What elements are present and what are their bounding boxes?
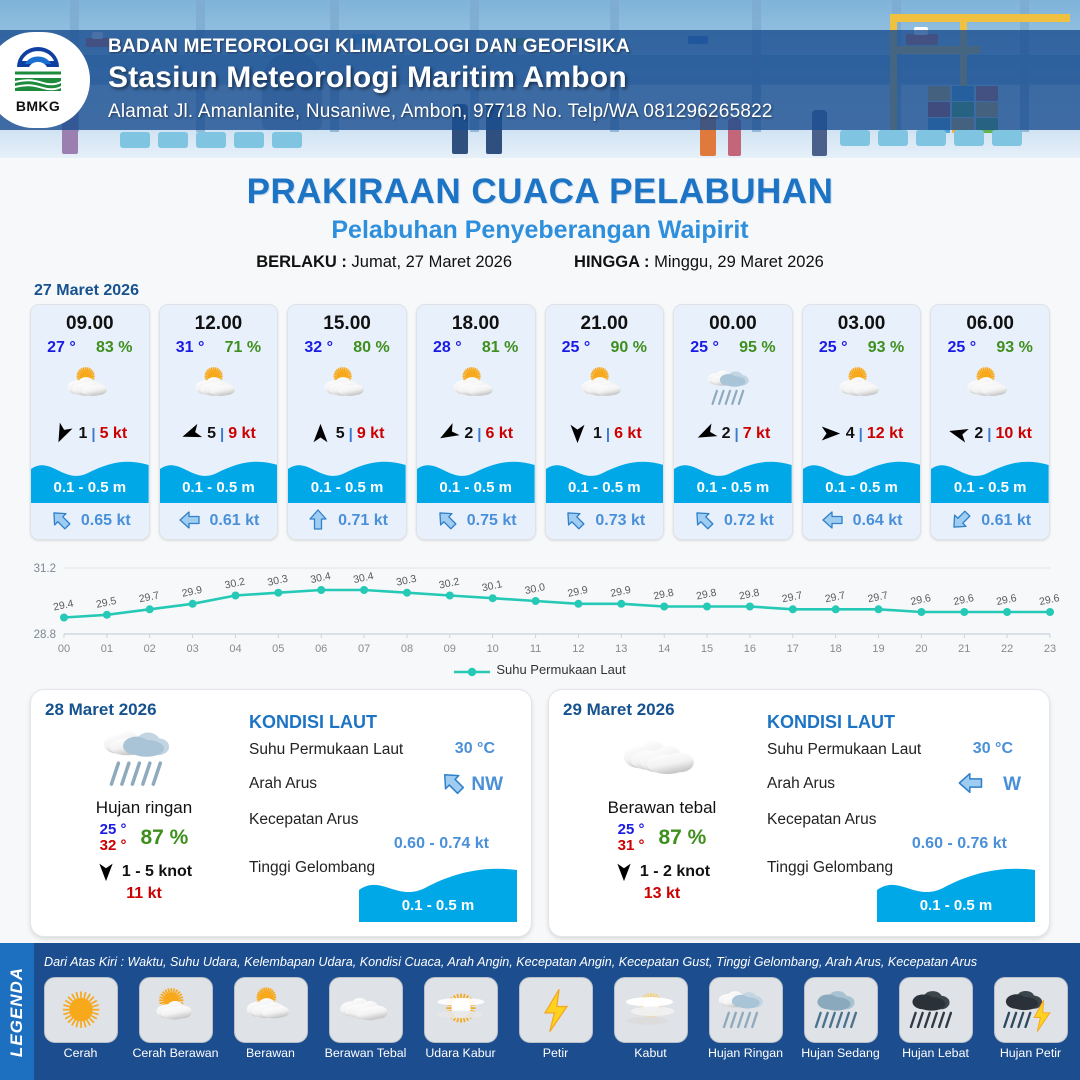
- card-wave: 0.1 - 0.5 m: [803, 451, 921, 503]
- current-direction-arrow-icon: [949, 508, 975, 534]
- hourly-forecast-cards: 09.00 27 ° 83 % 1 | 5 kt: [0, 304, 1080, 540]
- weather-hujan-lebat-icon: [899, 977, 973, 1043]
- legend-item: Hujan Sedang: [796, 977, 885, 1060]
- legend-side-tab: LEGENDA: [0, 943, 34, 1080]
- current-direction-arrow-icon: [692, 508, 718, 534]
- wind-scale: 2: [464, 425, 473, 443]
- weather-berawan-icon: [546, 359, 664, 417]
- daily-temps: 25 ° 31 ° 87 %: [563, 822, 761, 854]
- wave-height: 0.1 - 0.5 m: [546, 479, 664, 496]
- wind-speed: 6 kt: [485, 425, 513, 443]
- legend-item: Hujan Ringan: [701, 977, 790, 1060]
- svg-text:14: 14: [658, 643, 670, 655]
- wind-direction-arrow-icon: [96, 862, 116, 882]
- current-direction-label: Arah Arus: [767, 775, 835, 793]
- legend-item-label: Hujan Ringan: [708, 1046, 783, 1060]
- svg-text:10: 10: [487, 643, 499, 655]
- weather-berawan-icon: [31, 359, 149, 417]
- wind-separator: |: [349, 426, 353, 443]
- card-wave: 0.1 - 0.5 m: [417, 451, 535, 503]
- chart-legend: Suhu Permukaan Laut: [0, 662, 1080, 677]
- station-contact: Alamat Jl. Amanlanite, Nusaniwe, Ambon, …: [108, 101, 1058, 123]
- daily-wind: 1 - 2 knot: [563, 862, 761, 882]
- card-wind: 4 | 12 kt: [803, 417, 921, 451]
- legend-item: Cerah Berawan: [131, 977, 220, 1060]
- card-humidity: 93 %: [996, 339, 1032, 357]
- card-wind: 1 | 6 kt: [546, 417, 664, 451]
- wind-scale: 5: [336, 425, 345, 443]
- bmkg-logo-text: BMKG: [16, 98, 60, 114]
- daily-temp-min: 25 °: [100, 822, 127, 838]
- svg-text:00: 00: [58, 643, 70, 655]
- legend-item: Hujan Lebat: [891, 977, 980, 1060]
- daily-wind: 1 - 5 knot: [45, 862, 243, 882]
- weather-berawan-tebal-icon: [563, 722, 761, 796]
- svg-text:06: 06: [315, 643, 327, 655]
- svg-text:21: 21: [958, 643, 970, 655]
- current-direction-arrow-icon: [821, 508, 847, 534]
- daily-gust: 13 kt: [563, 885, 761, 903]
- sst-label: Suhu Permukaan Laut: [767, 741, 921, 759]
- current-direction-value: NW: [471, 774, 503, 796]
- wave-height-value: 0.1 - 0.5 m: [877, 897, 1035, 914]
- legend-item-label: Kabut: [634, 1046, 666, 1060]
- sea-conditions: KONDISI LAUT Suhu Permukaan Laut 30 °C A…: [761, 700, 1035, 926]
- weather-petir-icon: [519, 977, 593, 1043]
- current-speed: 0.61 kt: [981, 512, 1031, 530]
- daily-condition: Berawan tebal: [563, 798, 761, 818]
- svg-text:05: 05: [272, 643, 284, 655]
- sst-value: 30 °C: [455, 740, 495, 758]
- legend-bar: LEGENDA Dari Atas Kiri : Waktu, Suhu Uda…: [0, 943, 1080, 1080]
- legend-item-label: Hujan Petir: [1000, 1046, 1061, 1060]
- legend-item: Hujan Petir: [986, 977, 1075, 1060]
- wind-direction-arrow-icon: [52, 423, 74, 445]
- legend-item: Berawan Tebal: [321, 977, 410, 1060]
- hourly-card: 15.00 32 ° 80 % 5 | 9 kt: [287, 304, 407, 540]
- station-name: Stasiun Meteorologi Maritim Ambon: [108, 61, 1058, 95]
- hourly-card: 21.00 25 ° 90 % 1 | 6 kt: [545, 304, 665, 540]
- legend-item: Cerah: [36, 977, 125, 1060]
- page-title: PRAKIRAAN CUACA PELABUHAN: [0, 172, 1080, 212]
- current-direction-arrow-icon: [563, 508, 589, 534]
- wind-separator: |: [987, 426, 991, 443]
- card-wave: 0.1 - 0.5 m: [931, 451, 1049, 503]
- valid-from-label: BERLAKU :: [256, 253, 347, 271]
- card-current: 0.75 kt: [417, 503, 535, 539]
- card-time: 00.00: [674, 305, 792, 335]
- current-speed: 0.72 kt: [724, 512, 774, 530]
- card-temperature: 28 °: [433, 339, 462, 357]
- wave-height: 0.1 - 0.5 m: [160, 479, 278, 496]
- page-header: BMKG BADAN METEOROLOGI KLIMATOLOGI DAN G…: [0, 0, 1080, 158]
- current-speed-value: 0.60 - 0.76 kt: [912, 835, 1007, 853]
- hourly-card: 03.00 25 ° 93 % 4 | 12 kt: [802, 304, 922, 540]
- svg-text:07: 07: [358, 643, 370, 655]
- svg-text:02: 02: [144, 643, 156, 655]
- card-wind: 2 | 10 kt: [931, 417, 1049, 451]
- card-wind: 5 | 9 kt: [160, 417, 278, 451]
- daily-wind-range: 1 - 5 knot: [122, 863, 192, 881]
- current-speed: 0.61 kt: [210, 512, 260, 530]
- hourly-card: 06.00 25 ° 93 % 2 | 10 kt: [930, 304, 1050, 540]
- sst-value: 30 °C: [973, 740, 1013, 758]
- card-temperature: 31 °: [176, 339, 205, 357]
- daily-humidity: 87 %: [658, 826, 706, 850]
- wind-scale: 1: [593, 425, 602, 443]
- svg-text:22: 22: [1001, 643, 1013, 655]
- current-speed: 0.75 kt: [467, 512, 517, 530]
- wind-speed: 7 kt: [743, 425, 771, 443]
- daily-condition: Hujan ringan: [45, 798, 243, 818]
- card-current: 0.61 kt: [931, 503, 1049, 539]
- card-wind: 5 | 9 kt: [288, 417, 406, 451]
- daily-gust: 11 kt: [45, 885, 243, 903]
- card-temperature: 25 °: [562, 339, 591, 357]
- wind-speed: 5 kt: [100, 425, 128, 443]
- card-wave: 0.1 - 0.5 m: [31, 451, 149, 503]
- weather-kabut-icon: [614, 977, 688, 1043]
- wind-separator: |: [859, 426, 863, 443]
- sst-line-chart-svg: 31.2 28.8 29.429.529.729.930.230.330.430…: [18, 552, 1062, 660]
- sea-conditions-title: KONDISI LAUT: [767, 712, 1035, 733]
- card-time: 12.00: [160, 305, 278, 335]
- wave-height-value: 0.1 - 0.5 m: [359, 897, 517, 914]
- svg-text:12: 12: [572, 643, 584, 655]
- wind-separator: |: [735, 426, 739, 443]
- daily-date: 28 Maret 2026: [45, 700, 243, 720]
- current-speed-value: 0.60 - 0.74 kt: [394, 835, 489, 853]
- wind-scale: 5: [207, 425, 216, 443]
- valid-from-value: Jumat, 27 Maret 2026: [352, 253, 513, 271]
- card-time: 18.00: [417, 305, 535, 335]
- wind-direction-arrow-icon: [820, 423, 842, 445]
- weather-berawan-icon: [417, 359, 535, 417]
- wave-height: 0.1 - 0.5 m: [417, 479, 535, 496]
- legend-item: Kabut: [606, 977, 695, 1060]
- wind-speed: 10 kt: [996, 425, 1032, 443]
- chart-legend-marker: [454, 665, 490, 675]
- current-direction-value: W: [1003, 774, 1021, 796]
- current-speed: 0.71 kt: [338, 512, 388, 530]
- card-wave: 0.1 - 0.5 m: [288, 451, 406, 503]
- wind-direction-arrow-icon: [948, 423, 970, 445]
- svg-text:08: 08: [401, 643, 413, 655]
- card-current: 0.72 kt: [674, 503, 792, 539]
- wave-height: 0.1 - 0.5 m: [803, 479, 921, 496]
- card-humidity: 80 %: [353, 339, 389, 357]
- weather-berawan-icon: [234, 977, 308, 1043]
- current-speed-label: Kecepatan Arus: [767, 811, 876, 829]
- hourly-card: 18.00 28 ° 81 % 2 | 6 kt: [416, 304, 536, 540]
- card-time: 15.00: [288, 305, 406, 335]
- wind-direction-arrow-icon: [567, 423, 589, 445]
- card-current: 0.61 kt: [160, 503, 278, 539]
- valid-from: BERLAKU : Jumat, 27 Maret 2026: [256, 253, 512, 272]
- hourly-card: 12.00 31 ° 71 % 5 | 9 kt: [159, 304, 279, 540]
- current-direction-arrow-icon: [439, 769, 465, 795]
- legend-icon-list: Cerah Cerah Berawan Berawan: [36, 977, 1076, 1060]
- legend-item-label: Hujan Lebat: [902, 1046, 969, 1060]
- daily-summary: 28 Maret 2026 Hujan ringan 25 ° 32 ° 87: [45, 700, 243, 926]
- legend-item-label: Hujan Sedang: [801, 1046, 880, 1060]
- card-time: 09.00: [31, 305, 149, 335]
- card-humidity: 90 %: [611, 339, 647, 357]
- legend-item-label: Berawan: [246, 1046, 295, 1060]
- hourly-card: 09.00 27 ° 83 % 1 | 5 kt: [30, 304, 150, 540]
- wave-height-label: Tinggi Gelombang: [249, 859, 375, 877]
- weather-berawan-icon: [160, 359, 278, 417]
- agency-name: BADAN METEOROLOGI KLIMATOLOGI DAN GEOFIS…: [108, 36, 1058, 58]
- wind-direction-arrow-icon: [696, 423, 718, 445]
- wind-scale: 1: [78, 425, 87, 443]
- valid-to-value: Minggu, 29 Maret 2026: [654, 253, 824, 271]
- current-direction-arrow-icon: [49, 508, 75, 534]
- weather-hujan-ringan-icon: [45, 722, 243, 796]
- current-speed: 0.64 kt: [853, 512, 903, 530]
- current-direction-label: Arah Arus: [249, 775, 317, 793]
- current-speed-label: Kecepatan Arus: [249, 811, 358, 829]
- card-current: 0.71 kt: [288, 503, 406, 539]
- bmkg-logo-mark: [9, 47, 67, 97]
- daily-forecast-panel: 29 Maret 2026 Berawan tebal 25 ° 31 ° 87: [548, 689, 1050, 937]
- card-temperature: 25 °: [948, 339, 977, 357]
- current-direction-arrow-icon: [178, 508, 204, 534]
- weather-hujan-petir-icon: [994, 977, 1068, 1043]
- svg-text:23: 23: [1044, 643, 1056, 655]
- wind-scale: 2: [974, 425, 983, 443]
- wind-separator: |: [477, 426, 481, 443]
- svg-text:17: 17: [787, 643, 799, 655]
- weather-berawan-icon: [288, 359, 406, 417]
- wind-direction-arrow-icon: [438, 423, 460, 445]
- legend-item-label: Cerah Berawan: [132, 1046, 218, 1060]
- current-direction-arrow-icon: [435, 508, 461, 534]
- weather-berawan-tebal-icon: [329, 977, 403, 1043]
- wave-height: 0.1 - 0.5 m: [288, 479, 406, 496]
- legend-item: Petir: [511, 977, 600, 1060]
- weather-cerah-berawan-icon: [139, 977, 213, 1043]
- card-humidity: 93 %: [868, 339, 904, 357]
- card-wind: 1 | 5 kt: [31, 417, 149, 451]
- daily-humidity: 87 %: [140, 826, 188, 850]
- daily-wind-range: 1 - 2 knot: [640, 863, 710, 881]
- svg-text:18: 18: [830, 643, 842, 655]
- wind-direction-arrow-icon: [181, 423, 203, 445]
- card-wave: 0.1 - 0.5 m: [160, 451, 278, 503]
- svg-text:28.8: 28.8: [34, 629, 56, 641]
- legend-item-label: Berawan Tebal: [325, 1046, 407, 1060]
- weather-udara-kabur-icon: [424, 977, 498, 1043]
- valid-to: HINGGA : Minggu, 29 Maret 2026: [574, 253, 824, 272]
- wave-height: 0.1 - 0.5 m: [931, 479, 1049, 496]
- wave-height-label: Tinggi Gelombang: [767, 859, 893, 877]
- svg-text:16: 16: [744, 643, 756, 655]
- wind-direction-arrow-icon: [614, 862, 634, 882]
- weather-hujan-ringan-icon: [674, 359, 792, 417]
- weather-berawan-icon: [803, 359, 921, 417]
- daily-date: 29 Maret 2026: [563, 700, 761, 720]
- card-wave: 0.1 - 0.5 m: [546, 451, 664, 503]
- sst-chart: 31.2 28.8 29.429.529.729.930.230.330.430…: [18, 552, 1062, 660]
- card-time: 06.00: [931, 305, 1049, 335]
- card-wind: 2 | 6 kt: [417, 417, 535, 451]
- page-subtitle: Pelabuhan Penyeberangan Waipirit: [0, 216, 1080, 245]
- weather-berawan-icon: [931, 359, 1049, 417]
- wind-speed: 12 kt: [867, 425, 903, 443]
- wind-scale: 4: [846, 425, 855, 443]
- legend-item: Udara Kabur: [416, 977, 505, 1060]
- wave-height: 0.1 - 0.5 m: [674, 479, 792, 496]
- card-time: 03.00: [803, 305, 921, 335]
- wind-direction-arrow-icon: [310, 423, 332, 445]
- daily-forecast-panel: 28 Maret 2026 Hujan ringan 25 ° 32 ° 87: [30, 689, 532, 937]
- svg-text:03: 03: [186, 643, 198, 655]
- svg-text:19: 19: [872, 643, 884, 655]
- weather-cerah-icon: [44, 977, 118, 1043]
- wind-separator: |: [91, 426, 95, 443]
- legend-item-label: Cerah: [64, 1046, 98, 1060]
- current-speed: 0.65 kt: [81, 512, 131, 530]
- svg-text:15: 15: [701, 643, 713, 655]
- wave-height: 0.1 - 0.5 m: [31, 479, 149, 496]
- card-humidity: 81 %: [482, 339, 518, 357]
- hourly-date-label: 27 Maret 2026: [34, 282, 1080, 300]
- card-humidity: 83 %: [96, 339, 132, 357]
- svg-text:04: 04: [229, 643, 241, 655]
- svg-text:01: 01: [101, 643, 113, 655]
- wind-speed: 6 kt: [614, 425, 642, 443]
- card-current: 0.64 kt: [803, 503, 921, 539]
- weather-hujan-ringan-icon: [709, 977, 783, 1043]
- legend-item-label: Udara Kabur: [425, 1046, 495, 1060]
- sst-label: Suhu Permukaan Laut: [249, 741, 403, 759]
- card-current: 0.65 kt: [31, 503, 149, 539]
- sea-conditions: KONDISI LAUT Suhu Permukaan Laut 30 °C A…: [243, 700, 517, 926]
- wind-speed: 9 kt: [228, 425, 256, 443]
- svg-text:13: 13: [615, 643, 627, 655]
- current-direction-arrow-icon: [957, 769, 983, 795]
- svg-text:09: 09: [444, 643, 456, 655]
- weather-hujan-sedang-icon: [804, 977, 878, 1043]
- wind-speed: 9 kt: [357, 425, 385, 443]
- card-temperature: 32 °: [304, 339, 333, 357]
- legend-item: Berawan: [226, 977, 315, 1060]
- daily-temps: 25 ° 32 ° 87 %: [45, 822, 243, 854]
- svg-text:20: 20: [915, 643, 927, 655]
- card-humidity: 95 %: [739, 339, 775, 357]
- validity-row: BERLAKU : Jumat, 27 Maret 2026 HINGGA : …: [0, 253, 1080, 272]
- wind-separator: |: [606, 426, 610, 443]
- daily-summary: 29 Maret 2026 Berawan tebal 25 ° 31 ° 87: [563, 700, 761, 926]
- valid-to-label: HINGGA :: [574, 253, 649, 271]
- card-temperature: 25 °: [690, 339, 719, 357]
- card-humidity: 71 %: [225, 339, 261, 357]
- sea-conditions-title: KONDISI LAUT: [249, 712, 517, 733]
- card-temperature: 27 °: [47, 339, 76, 357]
- current-speed: 0.73 kt: [595, 512, 645, 530]
- svg-text:11: 11: [530, 643, 541, 655]
- card-temperature: 25 °: [819, 339, 848, 357]
- daily-forecast-panels: 28 Maret 2026 Hujan ringan 25 ° 32 ° 87: [0, 677, 1080, 937]
- daily-temp-max: 32 °: [100, 838, 127, 854]
- card-wind: 2 | 7 kt: [674, 417, 792, 451]
- card-time: 21.00: [546, 305, 664, 335]
- wind-separator: |: [220, 426, 224, 443]
- current-direction-arrow-icon: [306, 508, 332, 534]
- daily-temp-min: 25 °: [618, 822, 645, 838]
- hourly-card: 00.00 25 ° 95 % 2 | 7 kt: [673, 304, 793, 540]
- card-wave: 0.1 - 0.5 m: [674, 451, 792, 503]
- chart-legend-label: Suhu Permukaan Laut: [496, 662, 625, 677]
- legend-side-label: LEGENDA: [7, 966, 27, 1056]
- daily-temp-max: 31 °: [618, 838, 645, 854]
- legend-description: Dari Atas Kiri : Waktu, Suhu Udara, Kele…: [44, 955, 1074, 969]
- wind-scale: 2: [722, 425, 731, 443]
- legend-item-label: Petir: [543, 1046, 568, 1060]
- svg-text:31.2: 31.2: [34, 563, 56, 575]
- card-current: 0.73 kt: [546, 503, 664, 539]
